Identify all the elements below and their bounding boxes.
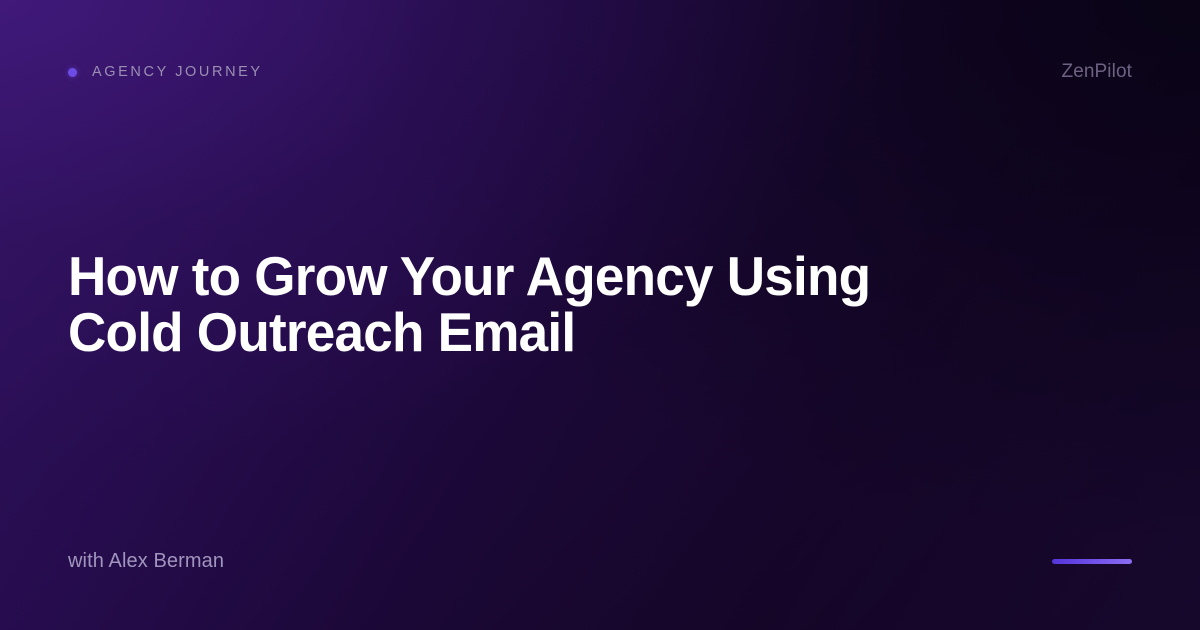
page-title: How to Grow Your Agency Using Cold Outre…: [68, 248, 956, 360]
byline-label: with Alex Berman: [68, 550, 224, 573]
card-header: AGENCY JOURNEY ZenPilot: [68, 58, 1132, 86]
eyebrow-group: AGENCY JOURNEY: [68, 64, 263, 80]
accent-bar: [1052, 559, 1132, 564]
eyebrow-label: AGENCY JOURNEY: [92, 64, 263, 80]
card-footer: with Alex Berman: [68, 548, 1132, 574]
brand-logo-text: ZenPilot: [1061, 61, 1132, 83]
social-card: AGENCY JOURNEY ZenPilot How to Grow Your…: [0, 0, 1200, 630]
bullet-dot-icon: [68, 68, 77, 77]
